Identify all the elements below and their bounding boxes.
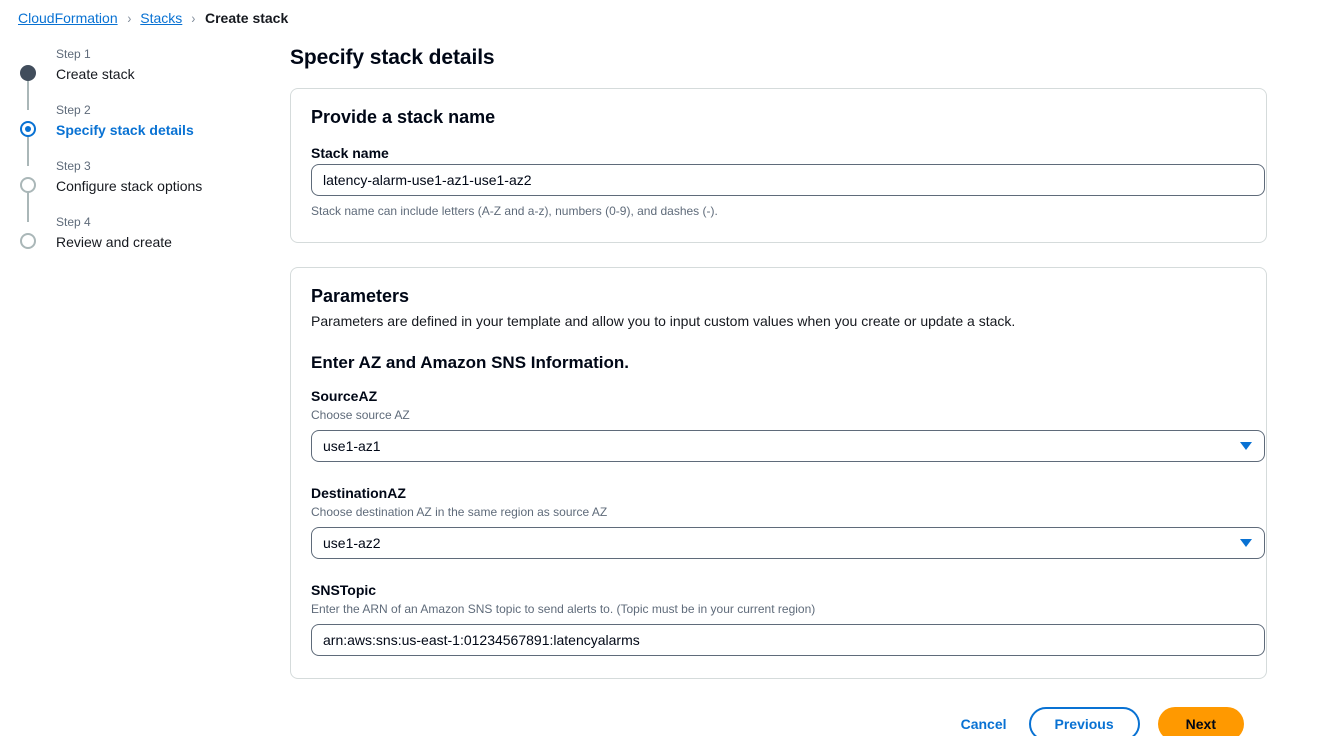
wizard-step-create-stack[interactable]: Step 1 Create stack xyxy=(20,46,290,102)
breadcrumb-item-create-stack: Create stack xyxy=(205,10,288,26)
card-title: Provide a stack name xyxy=(311,107,1246,128)
parameters-title: Parameters xyxy=(311,286,1246,307)
page-title: Specify stack details xyxy=(290,46,1267,70)
stack-name-label: Stack name xyxy=(311,144,1246,162)
source-az-hint: Choose source AZ xyxy=(311,407,1246,424)
step-label[interactable]: Review and create xyxy=(56,232,290,252)
step-marker-done-icon xyxy=(20,65,36,81)
step-number: Step 4 xyxy=(56,214,290,230)
wizard-actions: Cancel Previous Next xyxy=(290,703,1267,736)
main-content: Specify stack details Provide a stack na… xyxy=(290,46,1290,736)
step-label[interactable]: Configure stack options xyxy=(56,176,290,196)
stack-name-field-group: Stack name latency-alarm-use1-az1-use1-a… xyxy=(311,144,1246,220)
step-label[interactable]: Specify stack details xyxy=(56,120,290,140)
cancel-button[interactable]: Cancel xyxy=(957,710,1011,736)
destination-az-hint: Choose destination AZ in the same region… xyxy=(311,504,1246,521)
step-marker-active-icon xyxy=(20,121,36,137)
source-az-label: SourceAZ xyxy=(311,387,1246,405)
chevron-right-icon: › xyxy=(192,11,196,25)
stack-name-input[interactable]: latency-alarm-use1-az1-use1-az2 xyxy=(311,164,1265,196)
sns-topic-field-group: SNSTopic Enter the ARN of an Amazon SNS … xyxy=(311,581,1246,656)
destination-az-label: DestinationAZ xyxy=(311,484,1246,502)
sns-topic-label: SNSTopic xyxy=(311,581,1246,599)
step-number: Step 3 xyxy=(56,158,290,174)
wizard-step-specify-stack-details[interactable]: Step 2 Specify stack details xyxy=(20,102,290,158)
wizard-step-navigation: Step 1 Create stack Step 2 Specify stack… xyxy=(0,46,290,254)
breadcrumb-item-cloudformation[interactable]: CloudFormation xyxy=(18,10,118,26)
breadcrumb-item-stacks[interactable]: Stacks xyxy=(140,10,182,26)
page-layout: Step 1 Create stack Step 2 Specify stack… xyxy=(0,30,1320,736)
stack-name-description: Stack name can include letters (A-Z and … xyxy=(311,202,1246,220)
chevron-right-icon: › xyxy=(127,11,131,25)
source-az-select-value[interactable]: use1-az1 xyxy=(311,430,1265,462)
parameters-description: Parameters are defined in your template … xyxy=(311,311,1246,331)
step-label[interactable]: Create stack xyxy=(56,64,290,84)
step-marker-todo-icon xyxy=(20,177,36,193)
parameters-section-title: Enter AZ and Amazon SNS Information. xyxy=(311,353,1246,373)
destination-az-select-value[interactable]: use1-az2 xyxy=(311,527,1265,559)
next-button[interactable]: Next xyxy=(1158,707,1244,736)
parameters-card: Parameters Parameters are defined in you… xyxy=(290,267,1267,679)
sns-topic-hint: Enter the ARN of an Amazon SNS topic to … xyxy=(311,601,1246,618)
source-az-field-group: SourceAZ Choose source AZ use1-az1 xyxy=(311,387,1246,462)
previous-button[interactable]: Previous xyxy=(1029,707,1140,736)
source-az-select[interactable]: use1-az1 xyxy=(311,430,1265,462)
destination-az-select[interactable]: use1-az2 xyxy=(311,527,1265,559)
wizard-step-configure-stack-options[interactable]: Step 3 Configure stack options xyxy=(20,158,290,214)
sns-topic-input[interactable]: arn:aws:sns:us-east-1:01234567891:latenc… xyxy=(311,624,1265,656)
step-number: Step 2 xyxy=(56,102,290,118)
breadcrumb: CloudFormation › Stacks › Create stack xyxy=(0,0,1320,30)
step-number: Step 1 xyxy=(56,46,290,62)
step-marker-todo-icon xyxy=(20,233,36,249)
provide-stack-name-card: Provide a stack name Stack name latency-… xyxy=(290,88,1267,243)
destination-az-field-group: DestinationAZ Choose destination AZ in t… xyxy=(311,484,1246,559)
wizard-step-review-and-create[interactable]: Step 4 Review and create xyxy=(20,214,290,254)
